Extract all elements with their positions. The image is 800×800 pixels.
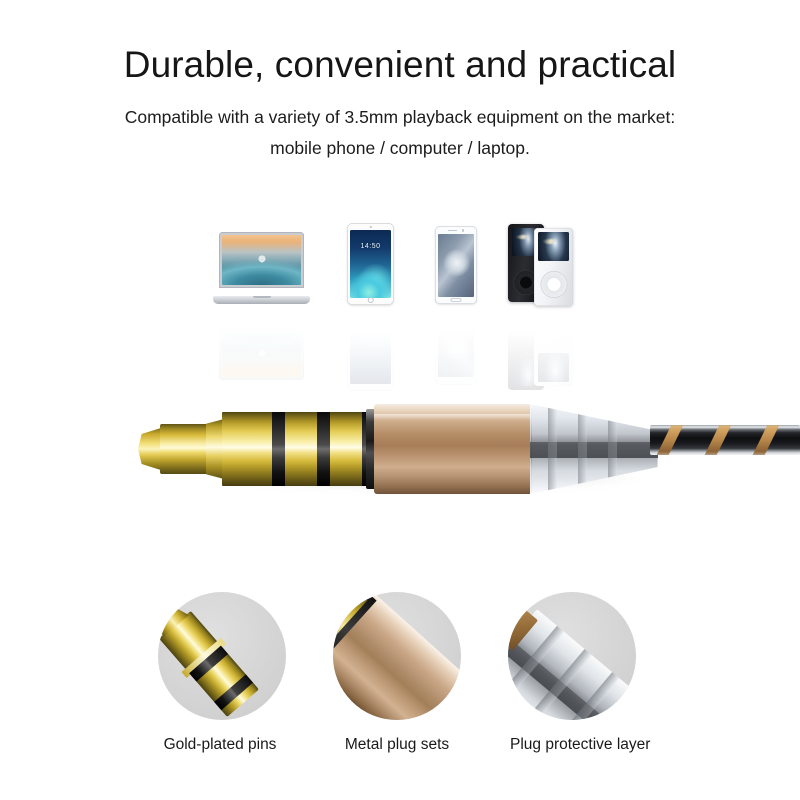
feature-gold-plated-pins: Gold-plated pins	[158, 592, 286, 754]
laptop-screen	[222, 235, 301, 285]
smartphone-body	[435, 226, 477, 304]
feature-image-metal-plug-sets	[333, 592, 461, 720]
tablet-home-button	[367, 297, 374, 304]
speaker-icon	[448, 230, 457, 232]
media-player-white-screen	[538, 232, 569, 261]
laptop-reflection	[213, 308, 310, 380]
feature-plug-protective-layer: Plug protective layer	[508, 592, 636, 754]
smartphone-home-button	[451, 298, 462, 302]
insulator-ring	[317, 412, 330, 486]
feature-image-gold-plated-pins	[158, 592, 286, 720]
tablet-body: 14:50	[347, 223, 394, 305]
page-title: Durable, convenient and practical	[0, 44, 800, 86]
device-media-player	[508, 224, 574, 306]
media-player-white	[534, 228, 573, 306]
metal-barrel-closeup	[333, 592, 461, 720]
screen-glint	[516, 235, 533, 239]
feature-highlights: Gold-plated pins Metal plug sets Plug pr…	[0, 592, 800, 762]
device-smartphone	[435, 226, 477, 304]
cable-gold-spiral	[702, 425, 734, 455]
feature-image-plug-protective-layer	[508, 592, 636, 720]
feature-metal-plug-sets: Metal plug sets	[333, 592, 461, 754]
plug-tip-barrel	[160, 424, 212, 474]
tablet-clock: 14:50	[350, 243, 391, 250]
feature-label: Metal plug sets	[333, 736, 461, 754]
protective-sleeve-closeup	[508, 609, 636, 720]
device-laptop	[213, 232, 310, 304]
insulator-ring	[214, 674, 253, 710]
device-tablet: 14:50	[347, 223, 394, 305]
feature-label: Plug protective layer	[510, 736, 636, 754]
cable-gold-spiral	[750, 425, 782, 455]
cable-gold-spiral	[654, 425, 686, 455]
laptop-base	[213, 296, 310, 304]
sleeve-rib	[578, 404, 587, 494]
metal-plug-housing	[374, 404, 532, 494]
feature-label: Gold-plated pins	[154, 736, 286, 754]
gold-pin-closeup	[159, 611, 259, 717]
click-wheel-white	[540, 271, 567, 298]
subtitle-line-2: mobile phone / computer / laptop.	[0, 133, 800, 164]
page-subtitle: Compatible with a variety of 3.5mm playb…	[0, 102, 800, 164]
camera-icon	[462, 229, 465, 232]
tablet-camera-icon	[369, 226, 371, 228]
pin-cone-tip	[158, 598, 189, 637]
smartphone-screen	[438, 234, 475, 297]
tablet-reflection	[347, 309, 394, 391]
tablet-screen: 14:50	[350, 230, 391, 298]
smartphone-top-bar	[435, 229, 477, 233]
insulator-ring	[272, 412, 285, 486]
subtitle-line-1: Compatible with a variety of 3.5mm playb…	[0, 102, 800, 133]
sleeve-rib	[548, 404, 557, 494]
laptop-lid	[219, 232, 304, 288]
screen-glint	[543, 239, 562, 244]
media-player-reflection	[508, 308, 574, 390]
plug-gold-shaft	[222, 412, 368, 486]
audio-cable	[650, 425, 800, 455]
compatible-devices-row: 14:50	[0, 212, 800, 332]
smartphone-reflection	[435, 307, 477, 385]
